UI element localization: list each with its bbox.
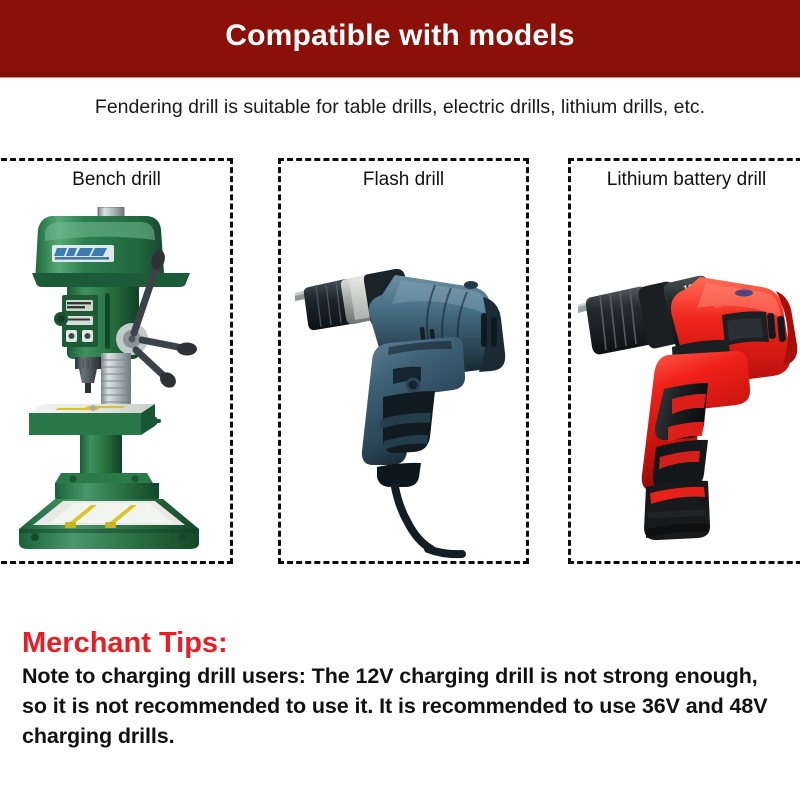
merchant-tips-body: Note to charging drill users: The 12V ch… <box>22 662 778 751</box>
cordless-lithium-drill-photo: 10 5 3 <box>571 203 800 561</box>
merchant-tips-heading: Merchant Tips: <box>22 627 778 659</box>
subtitle-text: Fendering drill is suitable for table dr… <box>0 96 800 119</box>
page-title: Compatible with models <box>225 21 574 51</box>
compatible-models-row: Bench drill <box>0 158 800 564</box>
product-infographic: Compatible with models Fendering drill i… <box>0 0 800 800</box>
merchant-tips-block: Merchant Tips: Note to charging drill us… <box>22 627 778 751</box>
card-label-bench-drill: Bench drill <box>0 169 230 191</box>
card-label-flash-drill: Flash drill <box>281 169 526 191</box>
bench-drill-photo <box>0 203 230 561</box>
corded-electric-drill-photo <box>281 203 526 561</box>
card-lithium-battery-drill: Lithium battery drill <box>568 158 800 564</box>
card-bench-drill: Bench drill <box>0 158 233 564</box>
card-flash-drill: Flash drill <box>278 158 529 564</box>
lithium-drill-illustration: 10 5 3 <box>572 271 800 561</box>
card-label-lithium-battery-drill: Lithium battery drill <box>571 169 800 191</box>
header-banner: Compatible with models <box>0 0 800 72</box>
flash-drill-illustration <box>285 261 523 561</box>
header-hairline-divider <box>0 77 800 78</box>
bench-drill-illustration <box>5 207 220 557</box>
